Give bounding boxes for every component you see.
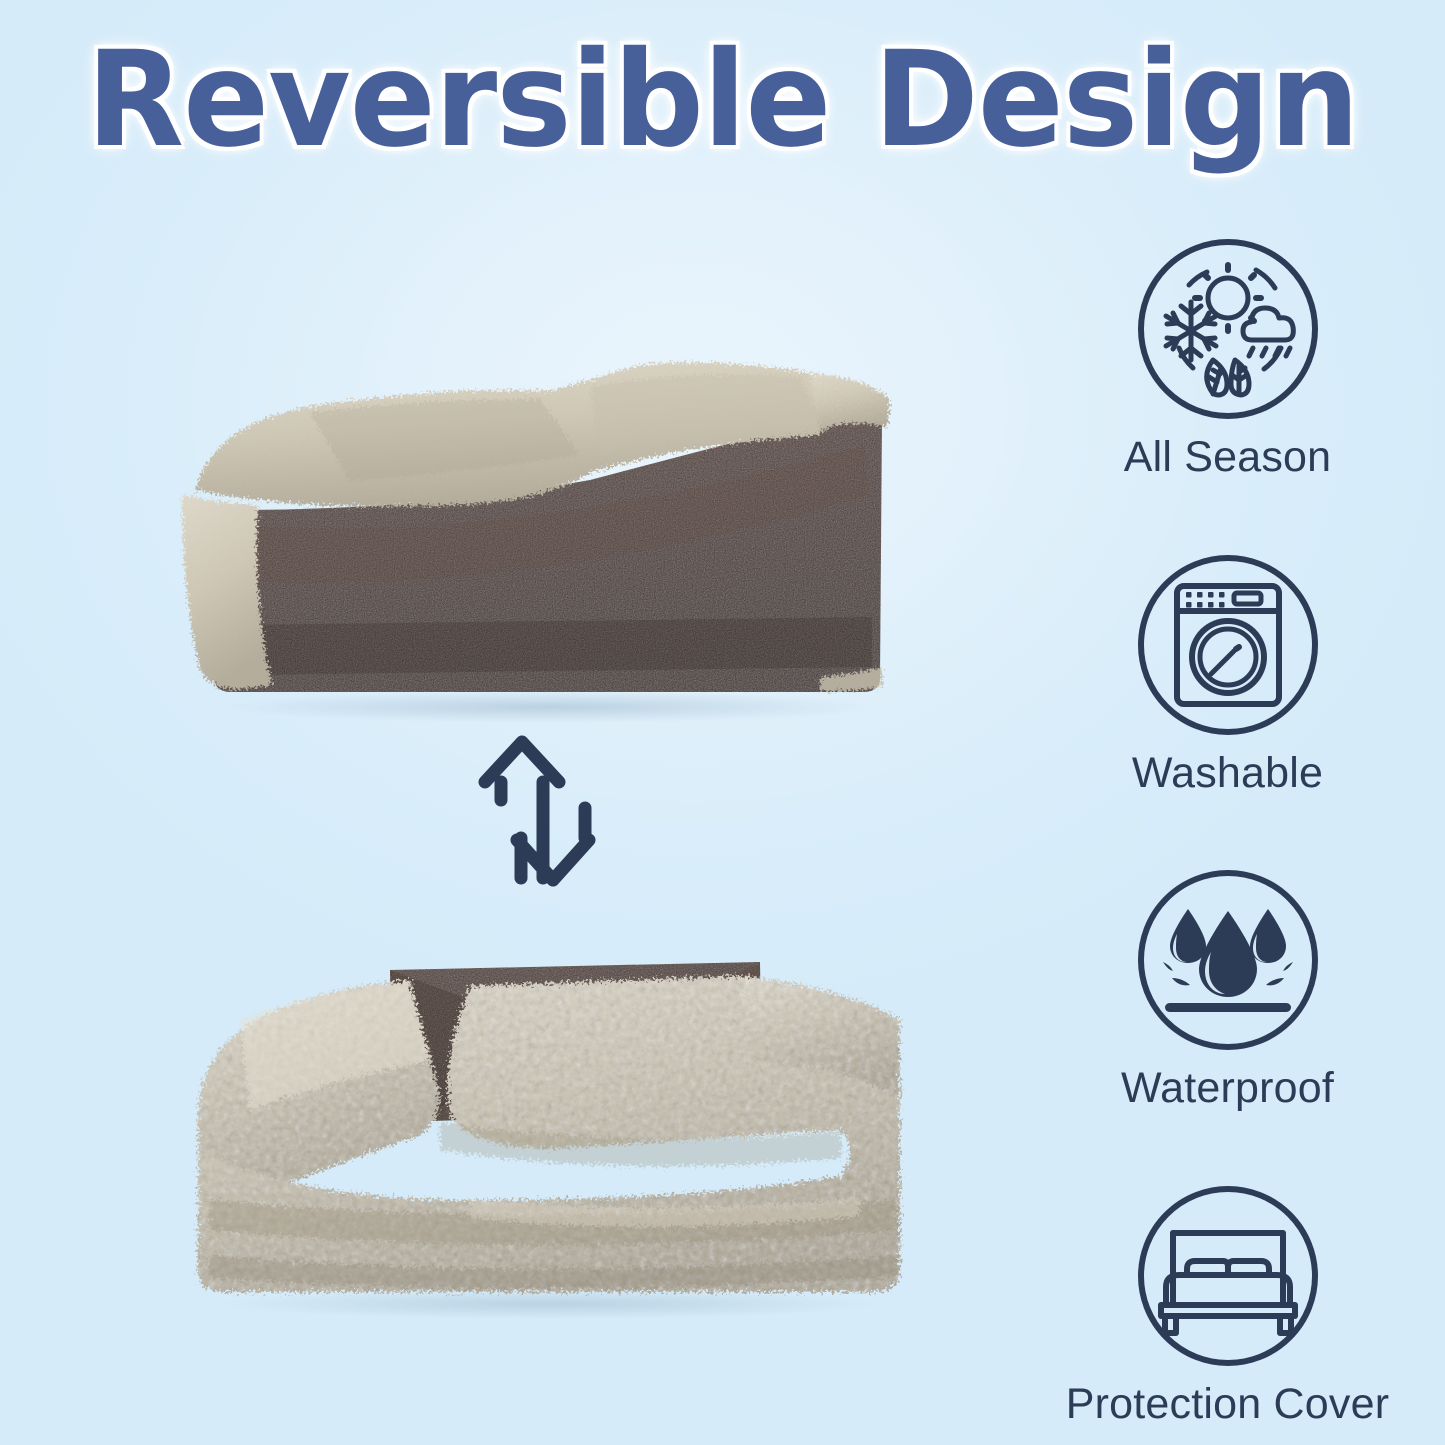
- feature-list: All Season: [1010, 236, 1445, 1426]
- product-photo-fleece-side: [120, 295, 950, 725]
- feature-label-all-season: All Season: [1124, 436, 1332, 479]
- photo-shadow: [220, 1289, 880, 1319]
- feature-item-all-season: All Season: [1010, 236, 1445, 479]
- feature-item-waterproof: Waterproof: [1010, 867, 1445, 1110]
- feature-label-waterproof: Waterproof: [1121, 1067, 1334, 1110]
- arrow-down-head: [517, 840, 589, 880]
- feature-item-protection-cover: Protection Cover: [1010, 1183, 1445, 1426]
- product-photo-sherpa-side: [140, 900, 950, 1320]
- feature-label-washable: Washable: [1132, 752, 1323, 795]
- water-droplets-icon: [1135, 867, 1321, 1053]
- page-title-wrapper: Reversible Design: [0, 34, 1445, 166]
- feature-label-protection-cover: Protection Cover: [1066, 1383, 1389, 1426]
- reversible-arrow: [465, 730, 615, 890]
- bed-icon: [1135, 1183, 1321, 1369]
- surface-bar: [1165, 1003, 1291, 1012]
- all-season-icon: [1135, 236, 1321, 422]
- page-title: Reversible Design: [86, 34, 1358, 166]
- arrow-up-head: [485, 742, 559, 782]
- washing-machine-icon: [1135, 552, 1321, 738]
- photo-shadow: [220, 691, 880, 723]
- infographic-canvas: Reversible Design: [0, 0, 1445, 1445]
- feature-item-washable: Washable: [1010, 552, 1445, 795]
- droplet-center: [1199, 911, 1257, 997]
